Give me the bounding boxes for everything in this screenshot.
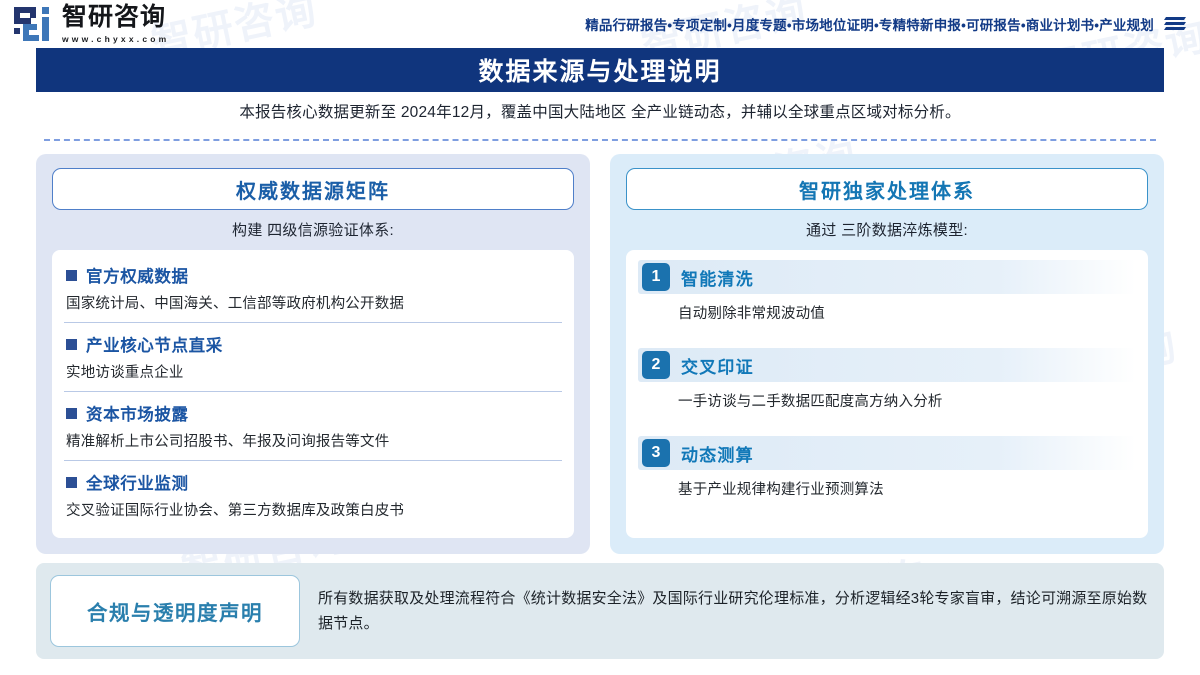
square-bullet-icon	[66, 408, 77, 419]
zhiyan-logo-icon	[14, 7, 54, 41]
brand-name: 智研咨询	[62, 4, 169, 30]
page-subtitle: 本报告核心数据更新至 2024年12月，覆盖中国大陆地区 全产业链动态，并辅以全…	[36, 100, 1164, 122]
square-bullet-icon	[66, 270, 77, 281]
brand-website: www.chyxx.com	[62, 34, 169, 44]
step-desc: 自动剔除非常规波动值	[678, 302, 1136, 323]
list-item[interactable]: 3 动态测算 基于产业规律构建行业预测算法	[638, 436, 1136, 499]
step-title-row: 1 智能清洗	[638, 260, 1136, 294]
stacked-layers-icon[interactable]	[1164, 15, 1188, 33]
page-header: 智研咨询 www.chyxx.com 精品行研报告•专项定制•月度专题•市场地位…	[0, 0, 1200, 48]
process-step-list: 1 智能清洗 自动剔除非常规波动值 2 交叉印证 一手访谈与二手数据匹配度高方纳…	[626, 250, 1148, 538]
list-item-title: 资本市场披露	[86, 401, 189, 425]
panel-processing-system-title: 智研独家处理体系	[799, 175, 975, 204]
square-bullet-icon	[66, 477, 77, 488]
list-item-title: 全球行业监测	[86, 470, 189, 494]
compliance-label-box: 合规与透明度声明	[50, 575, 300, 647]
panels-row: 权威数据源矩阵 构建 四级信源验证体系: 官方权威数据 国家统计局、中国海关、工…	[36, 154, 1164, 554]
list-item-title: 官方权威数据	[86, 263, 189, 287]
list-item-title-row: 产业核心节点直采	[66, 332, 560, 356]
list-item[interactable]: 1 智能清洗 自动剔除非常规波动值	[638, 260, 1136, 323]
compliance-statement: 合规与透明度声明 所有数据获取及处理流程符合《统计数据安全法》及国际行业研究伦理…	[36, 563, 1164, 659]
step-title: 交叉印证	[681, 353, 754, 378]
list-item-desc: 交叉验证国际行业协会、第三方数据库及政策白皮书	[66, 499, 560, 520]
list-item-title-row: 官方权威数据	[66, 263, 560, 287]
list-item[interactable]: 资本市场披露 精准解析上市公司招股书、年报及问询报告等文件	[64, 392, 562, 461]
panel-processing-system: 智研独家处理体系 通过 三阶数据淬炼模型: 1 智能清洗 自动剔除非常规波动值 …	[610, 154, 1164, 554]
step-title: 智能清洗	[681, 265, 754, 290]
page-title-band: 数据来源与处理说明	[36, 48, 1164, 92]
header-right: 精品行研报告•专项定制•月度专题•市场地位证明•专精特新申报•可研报告•商业计划…	[585, 14, 1188, 34]
panel-data-sources-subtitle: 构建 四级信源验证体系:	[52, 219, 574, 240]
panel-processing-system-subtitle: 通过 三阶数据淬炼模型:	[626, 219, 1148, 240]
compliance-label: 合规与透明度声明	[87, 596, 263, 626]
step-number-badge: 3	[642, 439, 670, 467]
header-tagline: 精品行研报告•专项定制•月度专题•市场地位证明•专精特新申报•可研报告•商业计划…	[585, 14, 1154, 34]
square-bullet-icon	[66, 339, 77, 350]
data-source-list: 官方权威数据 国家统计局、中国海关、工信部等政府机构公开数据 产业核心节点直采 …	[52, 250, 574, 538]
slide-root: 智研咨询 智研咨询 智研咨询 智研咨询 智研咨询 智研咨询 智研咨询 智研咨询	[0, 0, 1200, 675]
page-title: 数据来源与处理说明	[478, 52, 721, 88]
list-item[interactable]: 2 交叉印证 一手访谈与二手数据匹配度高方纳入分析	[638, 348, 1136, 411]
step-title: 动态测算	[681, 441, 754, 466]
list-item-title: 产业核心节点直采	[86, 332, 223, 356]
compliance-text: 所有数据获取及处理流程符合《统计数据安全法》及国际行业研究伦理标准，分析逻辑经3…	[318, 586, 1150, 637]
panel-data-sources-header: 权威数据源矩阵	[52, 168, 574, 210]
step-desc: 基于产业规律构建行业预测算法	[678, 478, 1136, 499]
panel-data-sources: 权威数据源矩阵 构建 四级信源验证体系: 官方权威数据 国家统计局、中国海关、工…	[36, 154, 590, 554]
list-item-desc: 实地访谈重点企业	[66, 361, 560, 382]
step-title-row: 3 动态测算	[638, 436, 1136, 470]
spacer	[638, 420, 1136, 436]
dashed-divider	[44, 139, 1156, 141]
step-title-row: 2 交叉印证	[638, 348, 1136, 382]
spacer	[638, 332, 1136, 348]
list-item[interactable]: 产业核心节点直采 实地访谈重点企业	[64, 323, 562, 392]
step-number-badge: 2	[642, 351, 670, 379]
list-item[interactable]: 官方权威数据 国家统计局、中国海关、工信部等政府机构公开数据	[64, 254, 562, 323]
list-item-desc: 精准解析上市公司招股书、年报及问询报告等文件	[66, 430, 560, 451]
list-item[interactable]: 全球行业监测 交叉验证国际行业协会、第三方数据库及政策白皮书	[64, 461, 562, 529]
list-item-title-row: 全球行业监测	[66, 470, 560, 494]
panel-data-sources-title: 权威数据源矩阵	[236, 175, 390, 204]
list-item-title-row: 资本市场披露	[66, 401, 560, 425]
step-desc: 一手访谈与二手数据匹配度高方纳入分析	[678, 390, 1136, 411]
panel-processing-system-header: 智研独家处理体系	[626, 168, 1148, 210]
list-item-desc: 国家统计局、中国海关、工信部等政府机构公开数据	[66, 292, 560, 313]
brand-text: 智研咨询 www.chyxx.com	[62, 4, 169, 43]
brand-logo[interactable]: 智研咨询 www.chyxx.com	[14, 4, 169, 43]
step-number-badge: 1	[642, 263, 670, 291]
